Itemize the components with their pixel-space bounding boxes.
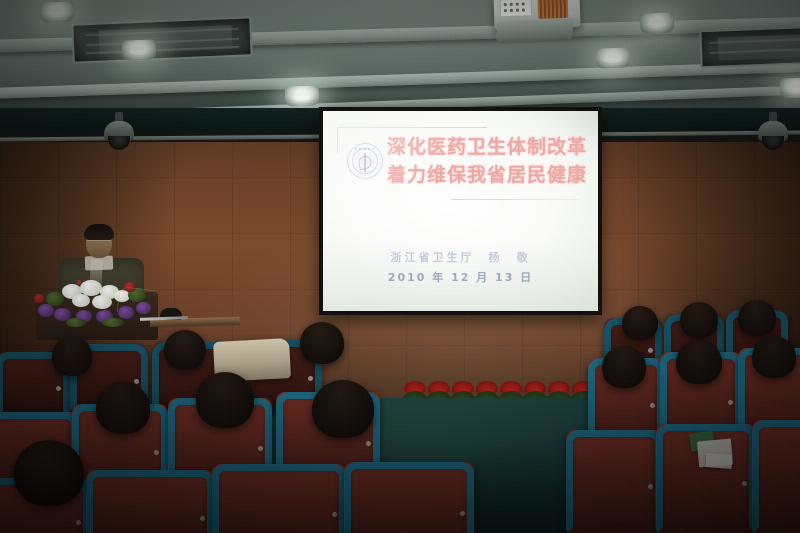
slide-author: 浙江省卫生厅 杨 敬 bbox=[323, 249, 598, 265]
audience-head bbox=[300, 322, 344, 364]
downlight-icon bbox=[285, 85, 320, 106]
seat bbox=[344, 462, 474, 533]
ac-vent-icon bbox=[71, 16, 253, 64]
white-papers bbox=[706, 453, 733, 469]
seat bbox=[86, 470, 214, 533]
slide-date: 2010 年 12 月 13 日 bbox=[323, 269, 598, 285]
slide-divider bbox=[451, 199, 579, 200]
downlight-icon bbox=[40, 1, 75, 22]
audience-head bbox=[52, 336, 92, 376]
microphone-icon bbox=[117, 286, 156, 316]
seat bbox=[566, 430, 662, 533]
dome-camera-icon bbox=[758, 112, 788, 152]
downlight-icon bbox=[780, 77, 800, 98]
audience-head bbox=[738, 300, 776, 336]
audience-head bbox=[676, 340, 722, 384]
slide-title-line-1: 深化医药卫生体制改革 bbox=[387, 133, 590, 161]
downlight-icon bbox=[122, 39, 157, 60]
emblem-stars: ★★★★★ bbox=[348, 146, 382, 151]
audience-head bbox=[96, 382, 150, 434]
audience-head bbox=[622, 306, 658, 340]
ceiling bbox=[0, 0, 800, 112]
audience-head bbox=[680, 302, 718, 338]
audience-head bbox=[312, 380, 374, 438]
seat bbox=[752, 420, 800, 533]
dome-camera-icon bbox=[104, 112, 134, 152]
audience-head bbox=[164, 330, 206, 370]
presentation-slide: ★★★★★ 深化医药卫生体制改革 着力维保我省居民健康 浙江省卫生厅 杨 敬 2… bbox=[323, 111, 598, 311]
health-department-emblem-icon: ★★★★★ bbox=[347, 143, 383, 179]
audience-head bbox=[14, 440, 84, 506]
downlight-icon bbox=[596, 47, 631, 68]
audience-head bbox=[602, 346, 646, 388]
auditorium-scene: ★★★★★ 深化医药卫生体制改革 着力维保我省居民健康 浙江省卫生厅 杨 敬 2… bbox=[0, 0, 800, 533]
audience-head bbox=[752, 336, 796, 378]
audience-head bbox=[196, 372, 254, 428]
ceiling-projector-icon bbox=[493, 0, 580, 29]
downlight-icon bbox=[640, 12, 675, 33]
glasses-icon bbox=[87, 240, 111, 245]
seat bbox=[212, 464, 346, 533]
slide-title-line-2: 着力维保我省居民健康 bbox=[387, 161, 590, 189]
projection-screen-frame: ★★★★★ 深化医药卫生体制改革 着力维保我省居民健康 浙江省卫生厅 杨 敬 2… bbox=[319, 107, 602, 315]
ac-vent-icon bbox=[699, 26, 800, 69]
projection-screen: ★★★★★ 深化医药卫生体制改革 着力维保我省居民健康 浙江省卫生厅 杨 敬 2… bbox=[323, 111, 598, 311]
